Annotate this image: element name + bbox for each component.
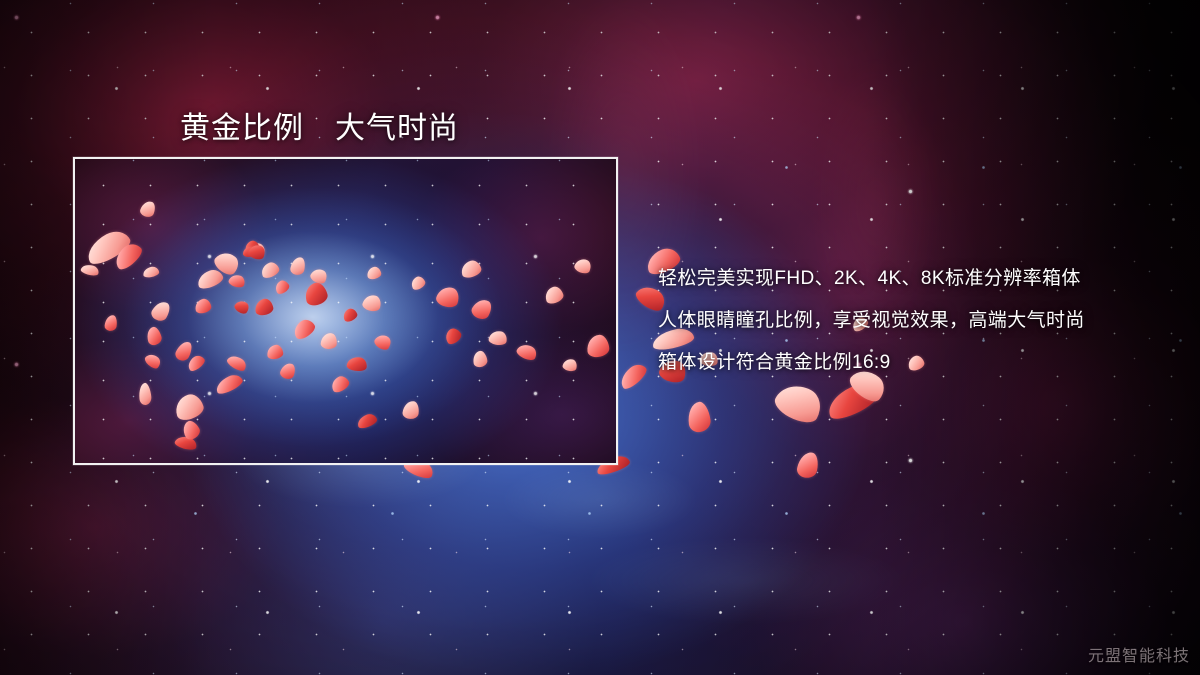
petal <box>771 377 828 429</box>
body-text-block: 轻松完美实现FHD、2K、4K、8K标准分辨率箱体 人体眼睛瞳孔比例，享受视觉效… <box>658 258 1158 384</box>
petal <box>796 450 821 480</box>
page-title: 黄金比例 大气时尚 <box>180 103 459 147</box>
watermark-text: 元盟智能科技 <box>1088 642 1190 666</box>
frame-photo-nebula <box>75 159 616 463</box>
petal <box>686 401 712 434</box>
framed-photo <box>73 157 618 465</box>
body-text-line-2: 人体眼睛瞳孔比例，享受视觉效果，高端大气时尚 <box>658 300 1158 342</box>
presentation-slide: 黄金比例 大气时尚 轻松完美实现FHD、2K、4K、8K标准分辨率箱体 人体眼睛… <box>0 0 1200 675</box>
petal <box>823 379 881 424</box>
body-text-line-1: 轻松完美实现FHD、2K、4K、8K标准分辨率箱体 <box>658 258 1158 300</box>
petal <box>616 360 649 392</box>
body-text-line-3: 箱体设计符合黄金比例16:9 <box>658 342 1158 384</box>
